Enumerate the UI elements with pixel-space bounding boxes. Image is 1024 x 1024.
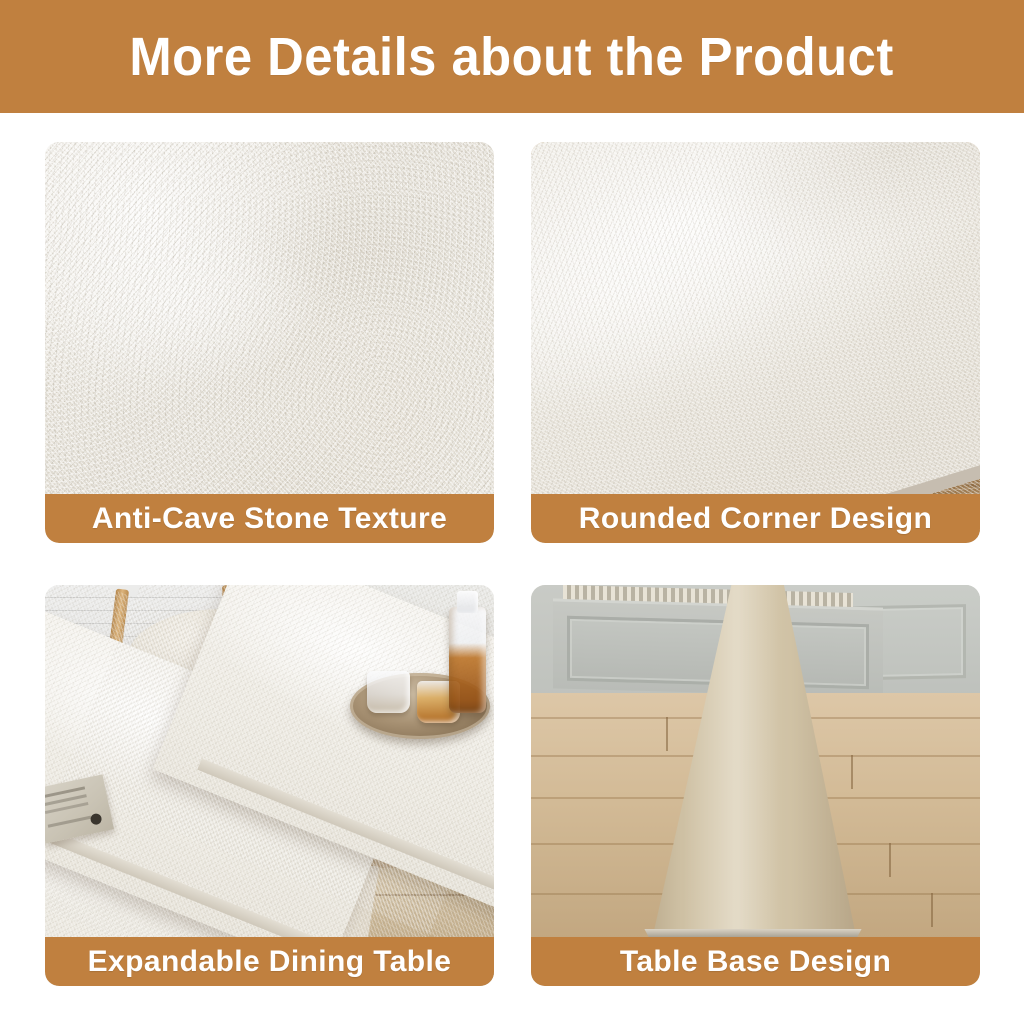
table-corner-photo [531, 142, 980, 543]
detail-panel-grid: Anti-Cave Stone Texture Rounded Corner D… [0, 113, 1024, 1024]
panel-caption-bar: Rounded Corner Design [531, 494, 980, 543]
panel-caption-bar: Table Base Design [531, 937, 980, 986]
floor-plank-joint [931, 893, 933, 927]
stone-surface [45, 142, 494, 543]
floor-plank-joint [851, 755, 853, 789]
panel-caption-bar: Expandable Dining Table [45, 937, 494, 986]
expandable-table-photo [45, 585, 494, 986]
stone-speckle-layer [45, 142, 494, 543]
panel-caption-text: Anti-Cave Stone Texture [92, 502, 447, 536]
detail-panel-expandable-dining-table[interactable]: Expandable Dining Table [45, 585, 494, 986]
page-title: More Details about the Product [130, 26, 894, 88]
decanter-stopper [457, 591, 478, 613]
stone-grain-layer [531, 142, 980, 543]
panel-caption-text: Table Base Design [620, 945, 891, 979]
book-emblem [90, 813, 103, 826]
panel-caption-bar: Anti-Cave Stone Texture [45, 494, 494, 543]
book-text-lines [45, 786, 85, 798]
table-base-photo [531, 585, 980, 986]
panel-caption-text: Expandable Dining Table [88, 945, 452, 979]
detail-panel-anti-cave-stone-texture[interactable]: Anti-Cave Stone Texture [45, 142, 494, 543]
whiskey-glass [367, 671, 410, 713]
whiskey-decanter [449, 607, 486, 713]
floor-plank-joint [889, 843, 891, 877]
stone-texture-photo [45, 142, 494, 543]
floor-plank-joint [666, 717, 668, 751]
stone-tabletop [531, 142, 980, 543]
detail-panel-rounded-corner-design[interactable]: Rounded Corner Design [531, 142, 980, 543]
detail-panel-table-base-design[interactable]: Table Base Design [531, 585, 980, 986]
page-header-banner: More Details about the Product [0, 0, 1024, 113]
panel-caption-text: Rounded Corner Design [579, 502, 932, 536]
